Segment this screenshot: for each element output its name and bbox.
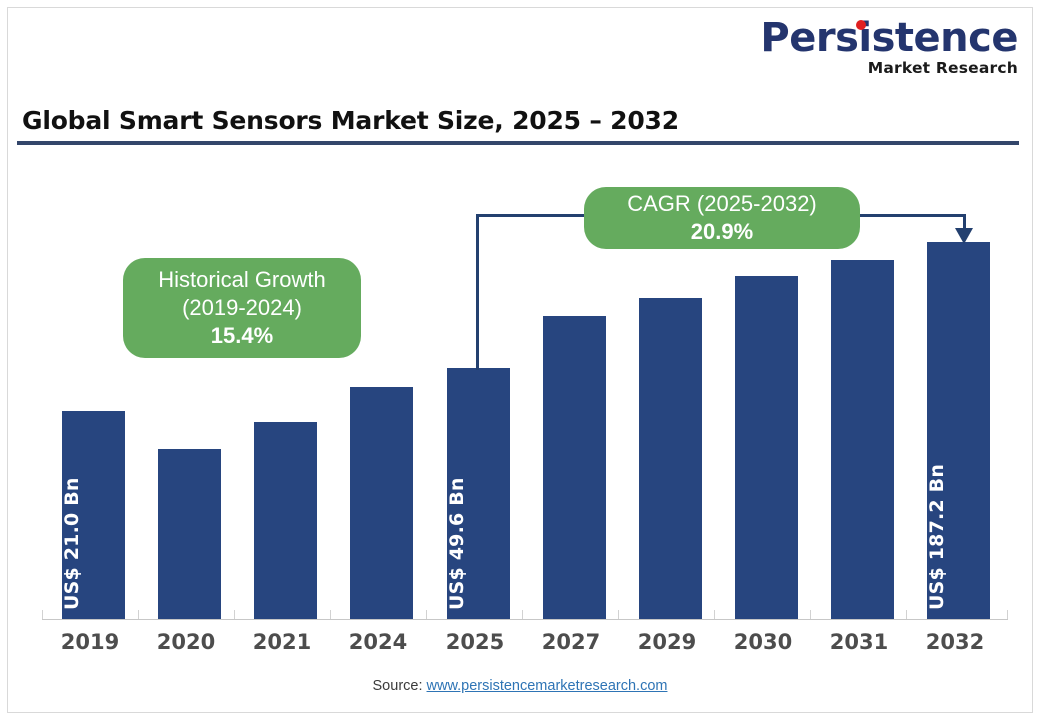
cagr-connector-left-stem	[476, 214, 479, 370]
x-label-2029: 2029	[619, 630, 715, 654]
source-line: Source: www.persistencemarketresearch.co…	[0, 678, 1040, 694]
x-axis-tick	[906, 610, 907, 619]
x-axis-tick	[330, 610, 331, 619]
x-axis-tick	[426, 610, 427, 619]
bar-2029[interactable]	[639, 298, 702, 619]
x-label-2027: 2027	[523, 630, 619, 654]
cagr-arrow-icon	[955, 228, 973, 244]
historical-growth-line2: (2019-2024)	[182, 294, 302, 322]
x-label-2024: 2024	[330, 630, 426, 654]
historical-growth-callout: Historical Growth (2019-2024) 15.4%	[123, 258, 361, 358]
x-axis-tick	[234, 610, 235, 619]
bar-value-label-2019: US$ 21.0 Bn	[61, 477, 83, 610]
x-label-2032: 2032	[907, 630, 1003, 654]
x-label-2025: 2025	[427, 630, 523, 654]
chart-page: Persistence Market Research Global Smart…	[0, 0, 1040, 720]
bar-2024[interactable]	[350, 387, 413, 619]
x-label-2031: 2031	[811, 630, 907, 654]
x-axis-tick	[714, 610, 715, 619]
historical-growth-line1: Historical Growth	[158, 266, 325, 294]
x-axis-tick	[1007, 610, 1008, 619]
historical-growth-value: 15.4%	[211, 322, 273, 350]
bar-2021[interactable]	[254, 422, 317, 619]
x-label-2030: 2030	[715, 630, 811, 654]
x-axis-tick	[42, 610, 43, 619]
source-prefix: Source:	[373, 678, 427, 694]
source-link[interactable]: www.persistencemarketresearch.com	[427, 678, 668, 694]
bar-value-label-2032: US$ 187.2 Bn	[926, 464, 948, 610]
x-axis-line	[42, 619, 1008, 620]
x-axis-tick	[618, 610, 619, 619]
bar-2027[interactable]	[543, 316, 606, 619]
x-label-2019: 2019	[42, 630, 138, 654]
x-axis-tick	[138, 610, 139, 619]
cagr-line1: CAGR (2025-2032)	[627, 190, 817, 218]
x-axis-tick	[522, 610, 523, 619]
bar-2020[interactable]	[158, 449, 221, 619]
x-label-2021: 2021	[234, 630, 330, 654]
cagr-callout: CAGR (2025-2032) 20.9%	[584, 187, 860, 249]
chart-plot-area: US$ 21.0 Bn US$ 49.6 Bn US$ 187.2 Bn 201…	[0, 0, 1040, 720]
bar-2031[interactable]	[831, 260, 894, 619]
bar-value-label-2025: US$ 49.6 Bn	[446, 477, 468, 610]
cagr-value: 20.9%	[691, 218, 753, 246]
x-label-2020: 2020	[138, 630, 234, 654]
bar-2030[interactable]	[735, 276, 798, 619]
x-axis-tick	[810, 610, 811, 619]
